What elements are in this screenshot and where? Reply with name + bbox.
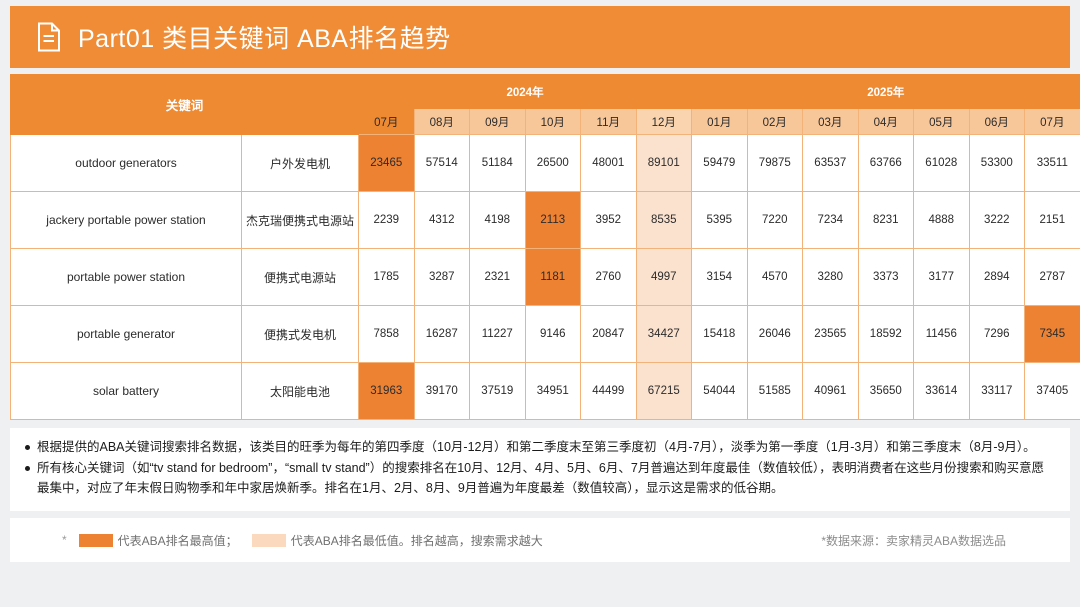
note-text: 根据提供的ABA关键词搜索排名数据，该类目的旺季为每年的第四季度（10月-12月… xyxy=(37,438,1055,457)
bullet-icon xyxy=(25,445,30,450)
table-row: portable generator便携式发电机7858162871122791… xyxy=(11,306,1080,363)
keyword-cn: 便携式发电机 xyxy=(242,306,359,363)
page-title: Part01 类目关键词 ABA排名趋势 xyxy=(78,19,451,55)
color-legend: * 代表ABA排名最高值； 代表ABA排名最低值。排名越高，搜索需求越大 xyxy=(62,532,543,549)
value-cell: 33511 xyxy=(1025,135,1080,192)
value-cell: 7220 xyxy=(747,192,803,249)
value-cell: 2239 xyxy=(359,192,415,249)
value-cell: 4570 xyxy=(747,249,803,306)
value-cell: 5395 xyxy=(692,192,748,249)
table-body: outdoor generators户外发电机23465575145118426… xyxy=(11,135,1080,420)
value-cell: 48001 xyxy=(581,135,637,192)
value-cell: 40961 xyxy=(803,363,859,420)
value-cell: 15418 xyxy=(692,306,748,363)
keyword-cn: 户外发电机 xyxy=(242,135,359,192)
aba-table-container: 关键词2024年2025年 07月08月09月10月11月12月01月02月03… xyxy=(10,74,1070,420)
month-header-1: 08月 xyxy=(414,109,470,135)
value-cell: 3287 xyxy=(414,249,470,306)
month-header-10: 05月 xyxy=(914,109,970,135)
value-cell: 33614 xyxy=(914,363,970,420)
note-text: 所有核心关键词（如“tv stand for bedroom”，“small t… xyxy=(37,459,1055,498)
table-row: outdoor generators户外发电机23465575145118426… xyxy=(11,135,1080,192)
value-cell: 3373 xyxy=(858,249,914,306)
value-cell: 7345 xyxy=(1025,306,1080,363)
table-row: jackery portable power station杰克瑞便携式电源站2… xyxy=(11,192,1080,249)
title-banner: Part01 类目关键词 ABA排名趋势 xyxy=(10,6,1070,68)
value-cell: 33117 xyxy=(969,363,1025,420)
month-header-4: 11月 xyxy=(581,109,637,135)
bullet-icon xyxy=(25,466,30,471)
value-cell: 26500 xyxy=(525,135,581,192)
value-cell: 8535 xyxy=(636,192,692,249)
year-header-0: 2024年 xyxy=(359,75,692,109)
legend-swatch-min xyxy=(252,534,286,547)
value-cell: 51184 xyxy=(470,135,526,192)
legend-swatch-max xyxy=(79,534,113,547)
value-cell: 63537 xyxy=(803,135,859,192)
value-cell: 2113 xyxy=(525,192,581,249)
table-row: portable power station便携式电源站178532872321… xyxy=(11,249,1080,306)
document-icon xyxy=(36,22,62,52)
value-cell: 35650 xyxy=(858,363,914,420)
month-header-9: 04月 xyxy=(858,109,914,135)
value-cell: 9146 xyxy=(525,306,581,363)
value-cell: 89101 xyxy=(636,135,692,192)
value-cell: 11456 xyxy=(914,306,970,363)
keyword-en: solar battery xyxy=(11,363,242,420)
keyword-cn: 杰克瑞便携式电源站 xyxy=(242,192,359,249)
month-header-6: 01月 xyxy=(692,109,748,135)
month-header-3: 10月 xyxy=(525,109,581,135)
value-cell: 54044 xyxy=(692,363,748,420)
value-cell: 51585 xyxy=(747,363,803,420)
value-cell: 8231 xyxy=(858,192,914,249)
month-header-5: 12月 xyxy=(636,109,692,135)
value-cell: 3177 xyxy=(914,249,970,306)
value-cell: 7858 xyxy=(359,306,415,363)
value-cell: 1181 xyxy=(525,249,581,306)
value-cell: 4997 xyxy=(636,249,692,306)
value-cell: 3222 xyxy=(969,192,1025,249)
value-cell: 7234 xyxy=(803,192,859,249)
note-item: 所有核心关键词（如“tv stand for bedroom”，“small t… xyxy=(25,459,1055,498)
value-cell: 2151 xyxy=(1025,192,1080,249)
value-cell: 7296 xyxy=(969,306,1025,363)
keyword-en: portable power station xyxy=(11,249,242,306)
header-year-row: 关键词2024年2025年 xyxy=(11,75,1080,109)
value-cell: 3952 xyxy=(581,192,637,249)
value-cell: 23465 xyxy=(359,135,415,192)
value-cell: 2760 xyxy=(581,249,637,306)
value-cell: 2894 xyxy=(969,249,1025,306)
value-cell: 34427 xyxy=(636,306,692,363)
value-cell: 3154 xyxy=(692,249,748,306)
value-cell: 57514 xyxy=(414,135,470,192)
value-cell: 34951 xyxy=(525,363,581,420)
month-header-12: 07月 xyxy=(1025,109,1080,135)
value-cell: 79875 xyxy=(747,135,803,192)
value-cell: 59479 xyxy=(692,135,748,192)
value-cell: 3280 xyxy=(803,249,859,306)
keyword-cn: 太阳能电池 xyxy=(242,363,359,420)
year-header-1: 2025年 xyxy=(692,75,1080,109)
value-cell: 11227 xyxy=(470,306,526,363)
value-cell: 1785 xyxy=(359,249,415,306)
value-cell: 4312 xyxy=(414,192,470,249)
value-cell: 2787 xyxy=(1025,249,1080,306)
note-item: 根据提供的ABA关键词搜索排名数据，该类目的旺季为每年的第四季度（10月-12月… xyxy=(25,438,1055,457)
value-cell: 63766 xyxy=(858,135,914,192)
month-header-2: 09月 xyxy=(470,109,526,135)
legend-max-label: 代表ABA排名最高值； xyxy=(118,532,238,549)
value-cell: 67215 xyxy=(636,363,692,420)
value-cell: 23565 xyxy=(803,306,859,363)
value-cell: 37519 xyxy=(470,363,526,420)
value-cell: 20847 xyxy=(581,306,637,363)
value-cell: 2321 xyxy=(470,249,526,306)
legend-star: * xyxy=(62,533,67,547)
value-cell: 39170 xyxy=(414,363,470,420)
table-header: 关键词2024年2025年 07月08月09月10月11月12月01月02月03… xyxy=(11,75,1080,135)
value-cell: 4198 xyxy=(470,192,526,249)
keyword-header: 关键词 xyxy=(11,75,359,135)
month-header-0: 07月 xyxy=(359,109,415,135)
value-cell: 26046 xyxy=(747,306,803,363)
legend-footer: * 代表ABA排名最高值； 代表ABA排名最低值。排名越高，搜索需求越大 *数据… xyxy=(10,518,1070,562)
value-cell: 31963 xyxy=(359,363,415,420)
month-header-7: 02月 xyxy=(747,109,803,135)
slide-page: Part01 类目关键词 ABA排名趋势 关键词2024年2025年 07月08… xyxy=(0,0,1080,607)
month-header-8: 03月 xyxy=(803,109,859,135)
value-cell: 18592 xyxy=(858,306,914,363)
month-header-11: 06月 xyxy=(969,109,1025,135)
keyword-cn: 便携式电源站 xyxy=(242,249,359,306)
keyword-en: outdoor generators xyxy=(11,135,242,192)
value-cell: 16287 xyxy=(414,306,470,363)
value-cell: 61028 xyxy=(914,135,970,192)
aba-rank-table: 关键词2024年2025年 07月08月09月10月11月12月01月02月03… xyxy=(10,74,1080,420)
keyword-en: portable generator xyxy=(11,306,242,363)
legend-min-label: 代表ABA排名最低值。排名越高，搜索需求越大 xyxy=(291,532,543,549)
data-source-label: *数据来源：卖家精灵ABA数据选品 xyxy=(821,532,1006,549)
value-cell: 44499 xyxy=(581,363,637,420)
table-row: solar battery太阳能电池3196339170375193495144… xyxy=(11,363,1080,420)
insights-notes: 根据提供的ABA关键词搜索排名数据，该类目的旺季为每年的第四季度（10月-12月… xyxy=(10,428,1070,511)
keyword-en: jackery portable power station xyxy=(11,192,242,249)
value-cell: 37405 xyxy=(1025,363,1080,420)
value-cell: 53300 xyxy=(969,135,1025,192)
value-cell: 4888 xyxy=(914,192,970,249)
